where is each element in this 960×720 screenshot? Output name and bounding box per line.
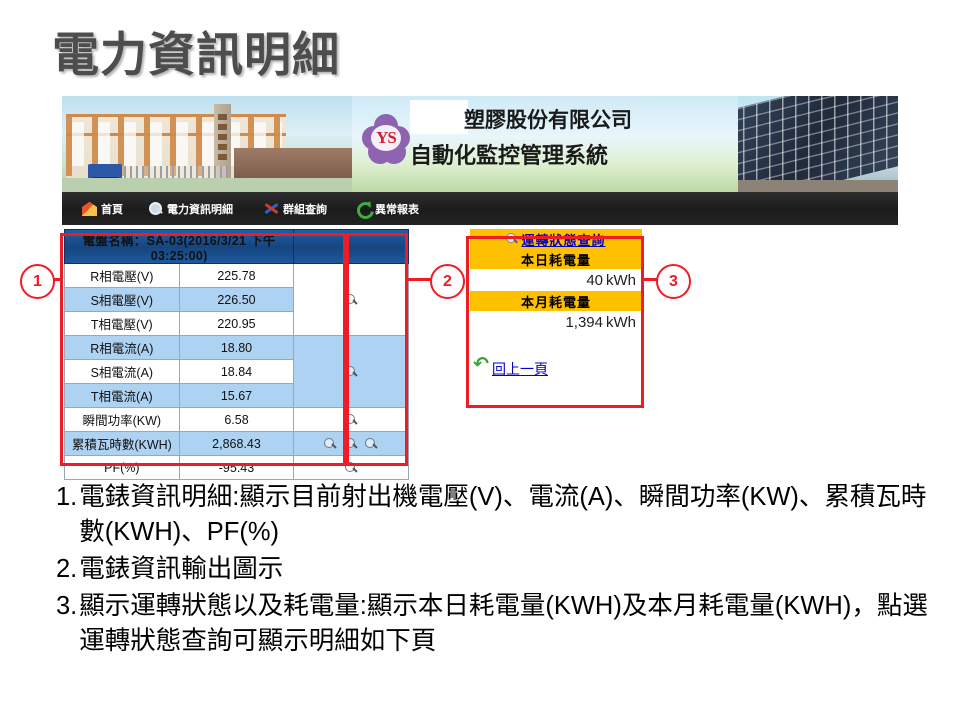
list-item-text: 顯示運轉狀態以及耗電量:顯示本日耗電量(KWH)及本月耗電量(KWH)，點選運轉…	[79, 589, 936, 659]
magnifier-icon[interactable]	[345, 366, 358, 379]
callout-number-3: 3	[656, 264, 691, 299]
list-item: 3. 顯示運轉狀態以及耗電量:顯示本日耗電量(KWH)及本月耗電量(KWH)，點…	[56, 589, 936, 659]
operating-status-query-button[interactable]: 運轉狀態查詢	[470, 229, 642, 249]
magnifier-icon	[148, 201, 163, 216]
nav-label: 首頁	[101, 201, 123, 217]
table-row: PF(%) -95.43	[65, 456, 409, 480]
magnifier-icon[interactable]	[324, 438, 337, 451]
main-navigation: 首頁 電力資訊明細 群組查詢 異常報表	[62, 192, 898, 225]
redaction-box	[410, 100, 468, 134]
ys-flower-logo-icon: YS	[362, 114, 410, 162]
callout-leader-2	[408, 278, 432, 281]
description-list: 1. 電錶資訊明細:顯示目前射出機電壓(V)、電流(A)、瞬間功率(KW)、累積…	[56, 480, 936, 661]
row-label: 瞬間功率(KW)	[65, 408, 180, 432]
ground	[62, 178, 352, 192]
row-label: R相電流(A)	[65, 336, 180, 360]
month-consumption-value-row: 1,394 kWh	[470, 311, 642, 333]
magnifier-icon[interactable]	[345, 438, 358, 451]
solar-array	[738, 96, 898, 192]
logo-text: YS	[362, 126, 410, 150]
row-value: 18.84	[179, 360, 294, 384]
row-value: -95.43	[179, 456, 294, 480]
chart-icon-cell-power[interactable]	[294, 408, 409, 432]
row-value: 15.67	[179, 384, 294, 408]
chart-icon-cell-kwh[interactable]	[294, 432, 409, 456]
list-item-number: 3.	[56, 589, 79, 659]
home-icon	[82, 201, 97, 216]
list-item-text: 電錶資訊明細:顯示目前射出機電壓(V)、電流(A)、瞬間功率(KW)、累積瓦時數…	[79, 480, 936, 550]
chart-icon-cell-voltage[interactable]	[294, 264, 409, 336]
nav-item-power-detail[interactable]: 電力資訊明細	[140, 192, 241, 225]
list-item-number: 2.	[56, 552, 79, 587]
refresh-icon	[356, 201, 371, 216]
row-label: T相電壓(V)	[65, 312, 180, 336]
row-value: 220.95	[179, 312, 294, 336]
row-label: PF(%)	[65, 456, 180, 480]
nav-item-abnormal-report[interactable]: 異常報表	[348, 192, 427, 225]
callout-number-2: 2	[430, 264, 465, 299]
table-row: R相電流(A) 18.80	[65, 336, 409, 360]
magnifier-icon[interactable]	[365, 438, 378, 451]
month-consumption-unit: kWh	[606, 314, 636, 331]
nav-item-home[interactable]: 首頁	[74, 192, 131, 225]
company-name-line1: 塑膠股份有限公司	[464, 104, 632, 134]
panel-spacer	[470, 333, 642, 359]
today-consumption-label: 本日耗電量	[470, 249, 642, 269]
site-banner: YS 塑膠股份有限公司 自動化監控管理系統	[62, 96, 898, 192]
today-consumption-value: 40	[586, 272, 603, 289]
chart-icon-cell-current[interactable]	[294, 336, 409, 408]
magnifier-icon[interactable]	[345, 414, 358, 427]
magnifier-icon[interactable]	[345, 294, 358, 307]
list-item: 2. 電錶資訊輸出圖示	[56, 552, 936, 587]
page-title: 電力資訊明細	[52, 16, 340, 85]
magnifier-icon[interactable]	[345, 462, 358, 475]
table-row: 累積瓦時數(KWH) 2,868.43	[65, 432, 409, 456]
slide-root: 電力資訊明細 YS	[0, 0, 960, 720]
row-value: 18.80	[179, 336, 294, 360]
row-value: 2,868.43	[179, 432, 294, 456]
solar-ground	[738, 180, 898, 192]
row-value: 6.58	[179, 408, 294, 432]
status-consumption-panel: 運轉狀態查詢 本日耗電量 40 kWh 本月耗電量 1,394 kWh 回上一頁	[470, 229, 642, 379]
back-to-previous-page-link[interactable]: 回上一頁	[470, 359, 642, 379]
row-label: R相電壓(V)	[65, 264, 180, 288]
nav-label: 異常報表	[375, 201, 419, 217]
row-label: 累積瓦時數(KWH)	[65, 432, 180, 456]
chart-icon-cell-pf[interactable]	[294, 456, 409, 480]
table-header-icon-col	[294, 230, 409, 264]
banner-center: YS 塑膠股份有限公司 自動化監控管理系統	[352, 96, 738, 192]
row-label: T相電流(A)	[65, 384, 180, 408]
page-content: 電盤名稱：SA-03(2016/3/21 下午 03:25:00) R相電壓(V…	[62, 225, 898, 468]
company-name-line2: 自動化監控管理系統	[410, 138, 608, 170]
operating-status-query-label[interactable]: 運轉狀態查詢	[521, 230, 605, 249]
month-consumption-value: 1,394	[565, 314, 603, 331]
row-value: 226.50	[179, 288, 294, 312]
tools-icon	[264, 201, 279, 216]
magnifier-icon	[506, 233, 518, 245]
solar-panel-photo	[738, 96, 898, 192]
callout-number-1: 1	[20, 264, 55, 299]
list-item-text: 電錶資訊輸出圖示	[79, 552, 936, 587]
row-label: S相電流(A)	[65, 360, 180, 384]
brick-wall	[234, 148, 352, 178]
nav-label: 電力資訊明細	[167, 201, 233, 217]
row-label: S相電壓(V)	[65, 288, 180, 312]
back-arrow-icon	[473, 361, 489, 377]
table-row: R相電壓(V) 225.78	[65, 264, 409, 288]
table-header: 電盤名稱：SA-03(2016/3/21 下午 03:25:00)	[65, 230, 294, 264]
row-value: 225.78	[179, 264, 294, 288]
today-consumption-unit: kWh	[606, 272, 636, 289]
month-consumption-label: 本月耗電量	[470, 291, 642, 311]
list-item-number: 1.	[56, 480, 79, 550]
nav-label: 群組查詢	[283, 201, 327, 217]
table-row: 瞬間功率(KW) 6.58	[65, 408, 409, 432]
factory-photo	[62, 96, 352, 192]
application-screenshot: YS 塑膠股份有限公司 自動化監控管理系統 首頁 電力資訊明細	[62, 96, 898, 468]
list-item: 1. 電錶資訊明細:顯示目前射出機電壓(V)、電流(A)、瞬間功率(KW)、累積…	[56, 480, 936, 550]
meter-detail-table: 電盤名稱：SA-03(2016/3/21 下午 03:25:00) R相電壓(V…	[64, 229, 409, 480]
today-consumption-value-row: 40 kWh	[470, 269, 642, 291]
nav-item-group-query[interactable]: 群組查詢	[256, 192, 335, 225]
back-link-label[interactable]: 回上一頁	[492, 359, 548, 379]
